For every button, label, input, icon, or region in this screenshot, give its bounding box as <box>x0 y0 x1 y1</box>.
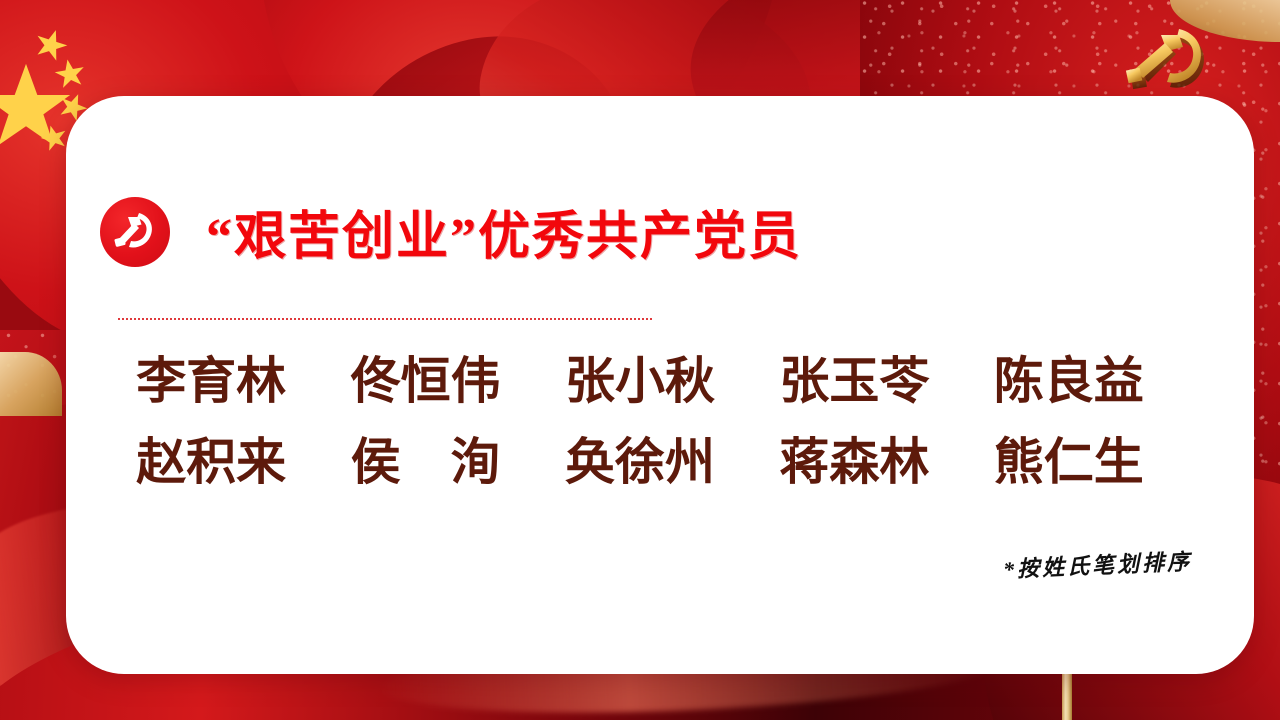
flag-small-star-4-icon <box>40 124 68 152</box>
flag-small-star-2-icon <box>54 58 86 90</box>
honoree-name: 熊仁生 <box>962 429 1176 496</box>
honoree-name: 侯 洵 <box>318 429 532 496</box>
content-card: “艰苦创业”优秀共产党员 李育林 佟恒伟 张小秋 张玉苓 陈良益 赵积来 侯 洵… <box>66 96 1254 674</box>
dotted-divider <box>118 318 652 320</box>
gold-flagpole-decor <box>1062 672 1072 720</box>
flag-small-star-1-icon <box>34 28 68 62</box>
honoree-name: 佟恒伟 <box>318 348 532 415</box>
honoree-name: 张小秋 <box>533 348 747 415</box>
honoree-name: 奂徐州 <box>533 429 747 496</box>
title-row: “艰苦创业”优秀共产党员 <box>100 194 802 269</box>
honoree-name: 张玉苓 <box>747 348 961 415</box>
slide-root: “艰苦创业”优秀共产党员 李育林 佟恒伟 张小秋 张玉苓 陈良益 赵积来 侯 洵… <box>0 0 1280 720</box>
party-emblem-gold-icon <box>1118 18 1224 100</box>
honoree-name: 赵积来 <box>104 429 318 496</box>
honoree-name-grid: 李育林 佟恒伟 张小秋 张玉苓 陈良益 赵积来 侯 洵 奂徐州 蒋森林 熊仁生 <box>104 348 1176 496</box>
honoree-name: 陈良益 <box>962 348 1176 415</box>
sorting-footnote: *按姓氏笔划排序 <box>1002 544 1192 584</box>
honoree-name: 李育林 <box>104 348 318 415</box>
party-emblem-icon <box>100 197 170 267</box>
page-title: “艰苦创业”优秀共产党员 <box>206 194 802 269</box>
honoree-name: 蒋森林 <box>747 429 961 496</box>
